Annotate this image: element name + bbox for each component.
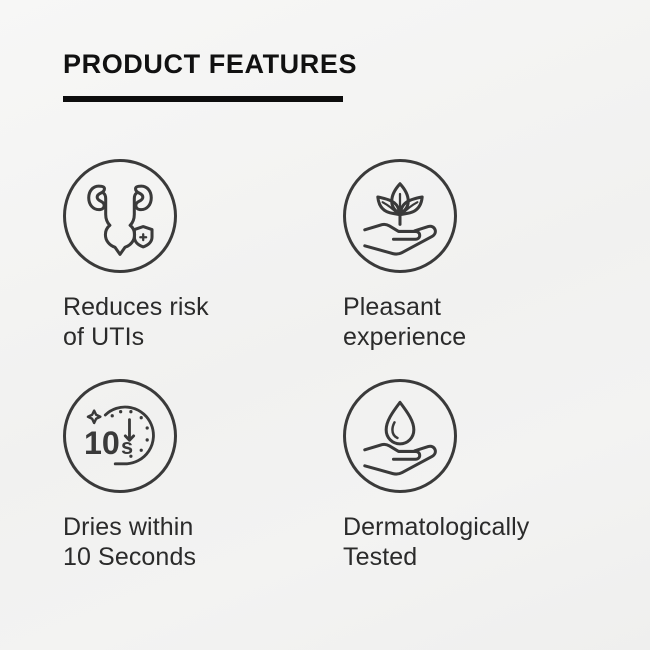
feature-row: Reduces risk of UTIs [0,159,650,379]
feature-item-reduces-risk-of-utis: Reduces risk of UTIs [63,159,341,352]
feature-item-dermatologically-tested: Dermatologically Tested [343,379,621,572]
feature-label: Dries within 10 Seconds [63,493,341,572]
stopwatch-duration-text: 10 [84,425,120,461]
stopwatch-10s-icon: 10 s [63,379,177,493]
hand-holding-droplet-icon [343,379,457,493]
product-features-panel: PRODUCT FEATURES [0,0,650,650]
feature-item-pleasant-experience: Pleasant experience [343,159,621,352]
hand-holding-plant-icon [343,159,457,273]
feature-grid: Reduces risk of UTIs [0,159,650,599]
stopwatch-unit-text: s [121,434,133,459]
feature-row: 10 s Dries within 10 Seconds [0,379,650,599]
header: PRODUCT FEATURES [63,48,583,102]
page-title: PRODUCT FEATURES [63,48,583,80]
title-underline-rule [63,96,343,102]
feature-label: Dermatologically Tested [343,493,621,572]
feature-label: Reduces risk of UTIs [63,273,341,352]
feature-label: Pleasant experience [343,273,621,352]
feature-item-dries-within-10-seconds: 10 s Dries within 10 Seconds [63,379,341,572]
urinary-system-shield-icon [63,159,177,273]
